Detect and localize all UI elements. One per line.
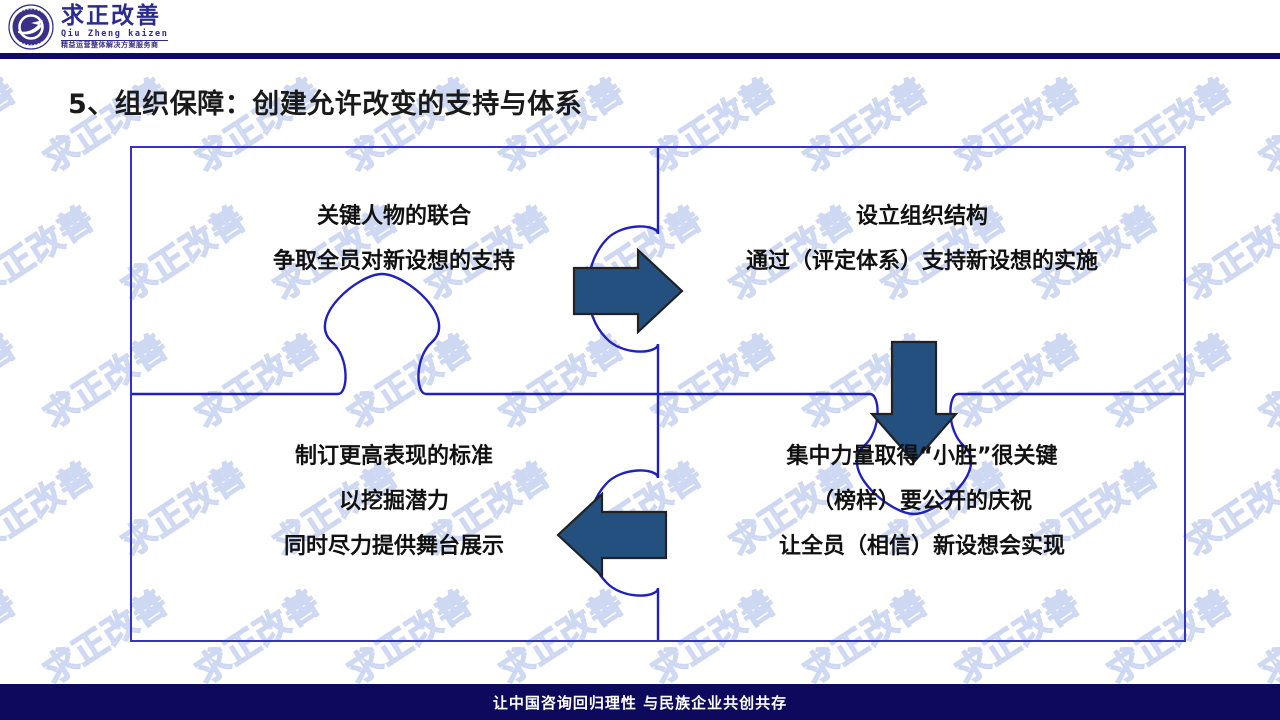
- quadrant-top-left-line-2: 争取全员对新设想的支持: [130, 239, 658, 284]
- quadrant-bottom-left-line-2: 以挖掘潜力: [130, 479, 658, 524]
- page-title: 5、组织保障：创建允许改变的支持与体系: [68, 82, 582, 121]
- quadrant-top-right-line-2: 通过（评定体系）支持新设想的实施: [658, 239, 1186, 284]
- footer-bar: 让中国咨询回归理性 与民族企业共创共存: [0, 684, 1280, 720]
- watermark-text: 求正改善: [1248, 64, 1280, 181]
- footer-slogan: 让中国咨询回归理性 与民族企业共创共存: [493, 692, 787, 713]
- watermark-text: 求正改善: [0, 448, 102, 565]
- quadrant-bottom-left-text: 制订更高表现的标准 以挖掘潜力 同时尽力提供舞台展示: [130, 434, 658, 569]
- jigsaw-diagram: 关键人物的联合 争取全员对新设想的支持 设立组织结构 通过（评定体系）支持新设想…: [130, 146, 1186, 642]
- quadrant-bottom-right-line-1: 集中力量取得“小胜”很关键: [658, 434, 1186, 479]
- brand-slogan: 精益运营整体解决方案服务商: [61, 40, 168, 49]
- watermark-text: 求正改善: [0, 576, 24, 693]
- brand-wordmark: 求正改善 Qiu Zheng kaizen 精益运营整体解决方案服务商: [61, 5, 168, 50]
- quadrant-bottom-right-line-3: 让全员（相信）新设想会实现: [658, 524, 1186, 569]
- watermark-text: 求正改善: [0, 320, 24, 437]
- quadrant-top-left-text: 关键人物的联合 争取全员对新设想的支持: [130, 194, 658, 284]
- watermark-text: 求正改善: [1248, 320, 1280, 437]
- quadrant-bottom-left-line-1: 制订更高表现的标准: [130, 434, 658, 479]
- watermark-text: 求正改善: [0, 64, 24, 181]
- watermark-text: 求正改善: [0, 192, 102, 309]
- watermark-text: 求正改善: [1174, 448, 1280, 565]
- quadrant-bottom-right-text: 集中力量取得“小胜”很关键 （榜样）要公开的庆祝 让全员（相信）新设想会实现: [658, 434, 1186, 569]
- header-bar: 求正改善 Qiu Zheng kaizen 精益运营整体解决方案服务商: [0, 0, 1280, 53]
- quadrant-bottom-right-line-2: （榜样）要公开的庆祝: [658, 479, 1186, 524]
- header-divider-rule: [0, 53, 1280, 59]
- brand-logo: 求正改善 Qiu Zheng kaizen 精益运营整体解决方案服务商: [8, 3, 168, 51]
- quadrant-top-right-line-1: 设立组织结构: [658, 194, 1186, 239]
- watermark-text: 求正改善: [1174, 192, 1280, 309]
- brand-name-pinyin: Qiu Zheng kaizen: [61, 30, 168, 39]
- quadrant-top-right-text: 设立组织结构 通过（评定体系）支持新设想的实施: [658, 194, 1186, 284]
- watermark-text: 求正改善: [1248, 576, 1280, 693]
- quadrant-bottom-left-line-3: 同时尽力提供舞台展示: [130, 524, 658, 569]
- circular-swoosh-logo-icon: [8, 4, 54, 50]
- quadrant-top-left-line-1: 关键人物的联合: [130, 194, 658, 239]
- brand-name-cn: 求正改善: [61, 5, 168, 28]
